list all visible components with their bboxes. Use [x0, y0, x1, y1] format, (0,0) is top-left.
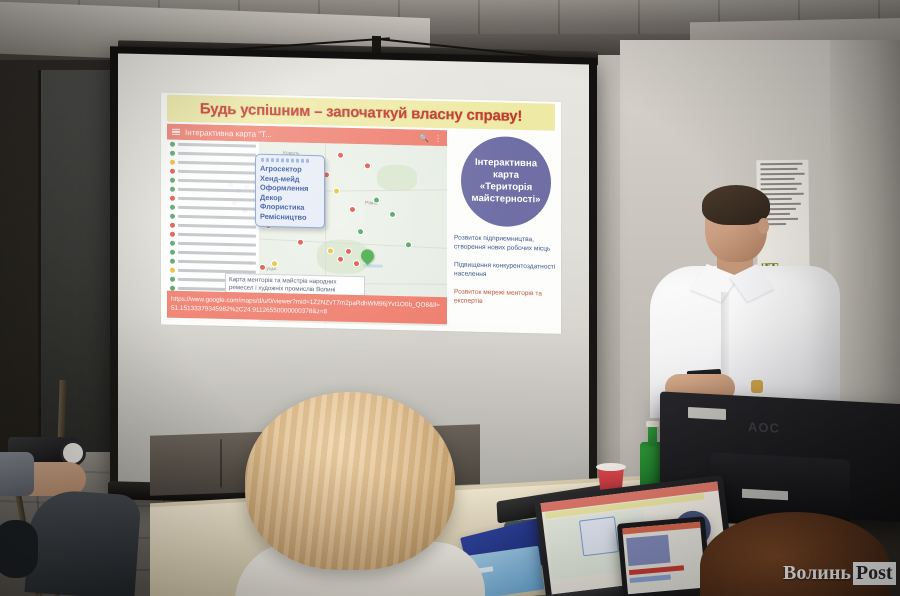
slide-bullet-list: Розвиток підприємництва, створення нових…: [454, 233, 558, 316]
map-marker: [259, 264, 266, 271]
operator-sleeve: [0, 452, 34, 496]
map-marker: [389, 211, 396, 218]
screenshot-root: 'IT Будь успішним – започаткуй власну сп…: [0, 0, 900, 596]
presentation-slide: Будь успішним – започаткуй власну справу…: [161, 92, 561, 333]
small-laptop[interactable]: [617, 516, 711, 596]
hamburger-icon[interactable]: [172, 128, 180, 135]
map-app-title: Інтерактивна карта "Т...: [185, 128, 414, 142]
map-marker: [345, 248, 352, 255]
category-item: Ремісництво: [260, 212, 320, 223]
small-laptop-screen: [622, 522, 705, 595]
speaker-ear: [758, 218, 769, 234]
map-marker: [327, 247, 334, 254]
bullet-item: Підвищення конкурентоздатності населення: [454, 260, 558, 280]
bullet-item: Розвиток підприємництва, створення нових…: [454, 233, 558, 253]
map-pin-icon: [361, 249, 374, 267]
bullet-item: Розвиток мережі менторів та експертів: [454, 287, 558, 307]
speaker-wristwatch: [751, 380, 763, 393]
map-marker: [337, 152, 344, 159]
speaker-person: [655, 188, 845, 418]
woman-hair-strands: [245, 392, 455, 570]
watermark-part2: Post: [853, 562, 896, 585]
watermark-part1: Волинь: [783, 562, 851, 585]
map-marker: [364, 162, 371, 169]
notebook-rings: [261, 158, 320, 163]
map-marker: [271, 260, 278, 267]
laptop-slide-legend: [579, 516, 619, 556]
woman-hair: [245, 392, 455, 570]
circle-line: карта: [493, 169, 519, 182]
slide-highlight-circle: Інтерактивна карта «Територія майстернос…: [461, 136, 551, 228]
office-chair: [25, 488, 142, 596]
map-marker: [405, 241, 412, 248]
map-marker: [373, 196, 380, 203]
map-marker: [357, 228, 364, 235]
more-options-icon[interactable]: ⋮: [434, 133, 442, 142]
map-marker: [349, 206, 356, 213]
map-marker: [337, 256, 344, 263]
slide-title: Будь успішним – започаткуй власну справу…: [200, 100, 522, 125]
audience-woman: [245, 392, 475, 596]
monitor-sticker: [688, 407, 726, 420]
map-marker: [333, 188, 340, 195]
circle-line: майстерності»: [472, 193, 541, 207]
map-marker: [353, 260, 360, 267]
watermark: Волинь Post: [783, 562, 896, 585]
circle-line: Інтерактивна: [475, 157, 537, 170]
slide-url-text: https://www.google.com/maps/d/u/0/viewer…: [171, 296, 443, 319]
map-marker: [297, 239, 304, 246]
office-chair-armrest: [0, 520, 38, 578]
search-icon[interactable]: 🔍: [419, 133, 429, 142]
category-legend-box: Агросектор Хенд-мейд Оформлення Декор Фл…: [255, 154, 325, 229]
monitor-brand-text: AOC: [748, 419, 780, 436]
